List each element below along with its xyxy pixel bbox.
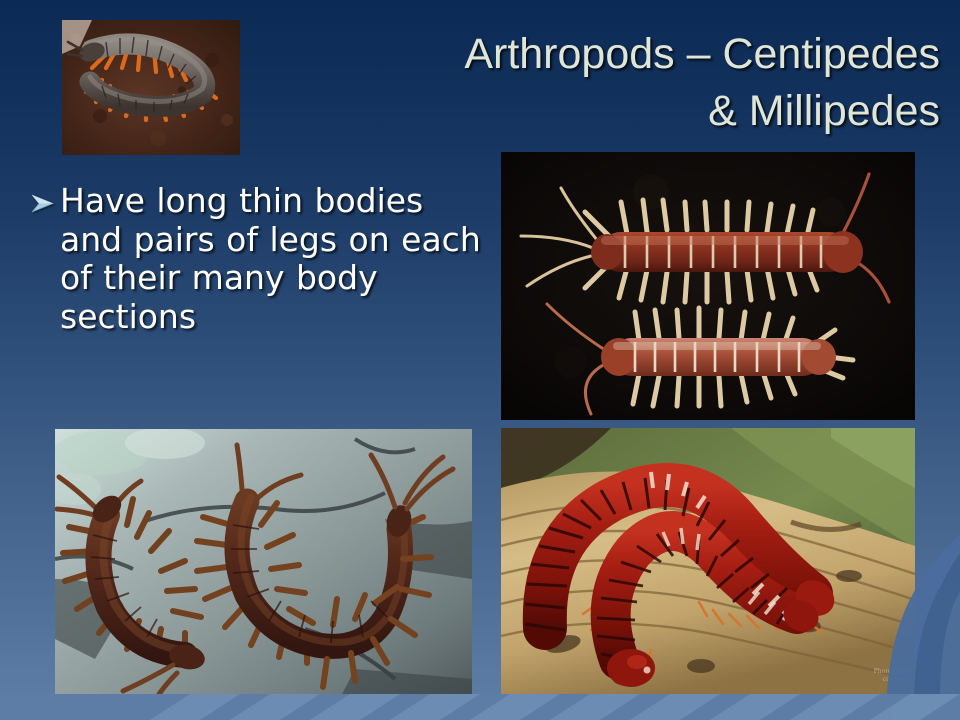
bullet-item-label: Have long thin bodies and pairs of legs … [60,182,490,336]
bullet-list: Have long thin bodies and pairs of legs … [30,182,490,336]
arrowhead-bullet-icon [30,192,60,220]
image-centipede-pair-black [501,152,915,420]
image-millipede-on-log: Photograph courtesy [501,428,915,694]
page-title: Arthropods – Centipedes & Millipedes [250,26,940,140]
image-centipede-on-soil [62,20,240,155]
slide-canvas: Arthropods – Centipedes & Millipedes Hav… [0,0,960,720]
image-centipedes-on-rock [55,429,472,708]
